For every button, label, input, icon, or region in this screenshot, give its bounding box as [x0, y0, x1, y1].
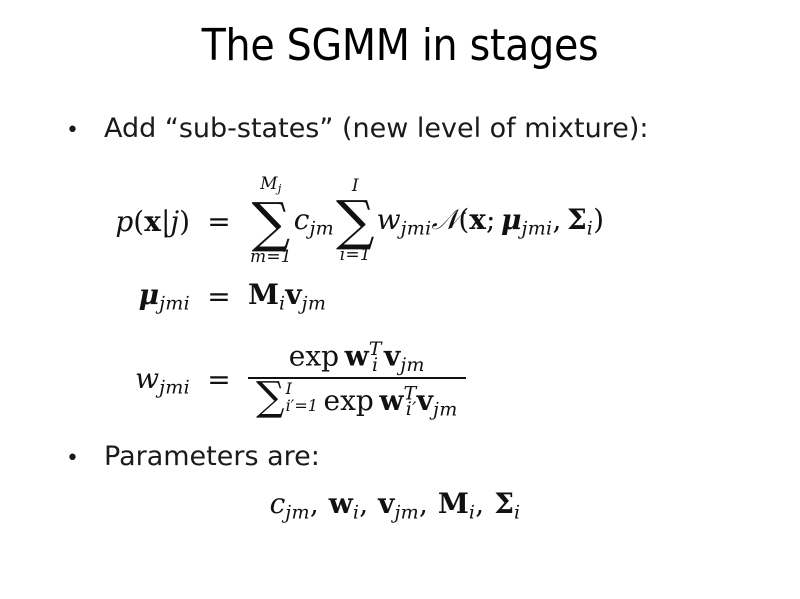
sum-upper-limit: I [286, 380, 318, 397]
exp-operator: exp [289, 339, 339, 372]
symbol-w-vector: w [379, 384, 403, 417]
sum-lower-limit: i=1 [340, 246, 371, 265]
sigma-glyph: ∑ [336, 196, 375, 246]
equals-sign: = [190, 205, 248, 238]
semicolon: ; [486, 203, 495, 236]
symbol-j: j [170, 205, 179, 238]
equation-rhs: exp wTi vjm ∑Ii′=1 exp wTi′vjm [248, 338, 466, 422]
bullet-item-label: Parameters are: [104, 440, 320, 474]
equation-rhs: Mj ∑ m=1 cjm I ∑ i=1 wjmi 𝒩(x; μjmi, Σi) [248, 175, 604, 267]
symbol-x-vector: x [469, 203, 486, 236]
parameter-list: cjm,wi,vjm,Mi,Σi [0, 487, 800, 523]
bullet-marker-icon: • [66, 442, 104, 476]
bullet-marker-icon: • [66, 114, 104, 148]
symbol-m-matrix: M [248, 278, 279, 311]
summation-over-substates: Mj ∑ m=1 [250, 175, 292, 267]
sigma-glyph: ∑ [256, 380, 285, 414]
slide-canvas: The SGMM in stages • Add “sub-states” (n… [0, 0, 800, 599]
summation-over-gaussians: I ∑ i=1 [336, 177, 375, 265]
equation-lhs: wjmi [60, 362, 190, 398]
equation-rhs: Mivjm [248, 278, 326, 314]
bullet-item-parameters: • Parameters are: [66, 440, 320, 476]
sigma-glyph: ∑ [252, 198, 291, 248]
sum-lower-limit: m=1 [250, 248, 292, 267]
fraction-denominator: ∑Ii′=1 exp wTi′vjm [248, 379, 466, 422]
symbol-mu-vector: μ [501, 203, 522, 236]
paren-open: ( [458, 203, 469, 236]
fraction-numerator: exp wTi vjm [281, 338, 433, 377]
comma: , [552, 203, 561, 236]
parameter-c: cjm, [270, 487, 319, 520]
weight-w: wjmi [377, 203, 432, 239]
symbol-conditional-bar: | [161, 205, 170, 238]
equation-substate-weight: wjmi = exp wTi vjm ∑Ii′=1 exp wTi′vjm [60, 338, 466, 422]
symbol-w-vector: w [345, 339, 369, 372]
bullet-item-label: Add “sub-states” (new level of mixture): [104, 112, 648, 146]
projection-matrix-term: Mivjm [248, 278, 326, 314]
parameter-w: wi, [329, 487, 368, 520]
equation-lhs: μjmi [60, 278, 190, 314]
coefficient-c: cjm [294, 203, 334, 239]
summation-normalizer: ∑Ii′=1 [256, 380, 318, 414]
equals-sign: = [190, 363, 248, 396]
parameter-m: Mi, [438, 487, 484, 520]
gaussian-term: 𝒩(x; μjmi, Σi) [432, 203, 605, 239]
equation-lhs: p(x|j) [60, 205, 190, 238]
symbol-v-vector: v [384, 339, 400, 372]
symbol-mu-vector: μ [139, 278, 160, 311]
equals-sign: = [190, 280, 248, 313]
equation-mean-vector: μjmi = Mivjm [60, 278, 326, 314]
page-title: The SGMM in stages [0, 20, 800, 72]
script-n-symbol: 𝒩 [432, 203, 459, 236]
paren-close: ) [593, 203, 604, 236]
parameter-sigma: Σi [494, 487, 520, 520]
sum-lower-limit: i′=1 [286, 397, 318, 414]
paren-open: ( [133, 205, 144, 238]
symbol-x-vector: x [144, 205, 161, 238]
symbol-v-vector: v [285, 278, 301, 311]
exp-operator: exp [324, 384, 374, 417]
bullet-item-sub-states: • Add “sub-states” (new level of mixture… [66, 112, 648, 148]
symbol-w: w [135, 362, 159, 395]
equation-likelihood: p(x|j) = Mj ∑ m=1 cjm I ∑ i=1 wjmi 𝒩(x; … [60, 175, 604, 267]
symbol-sigma-matrix: Σ [567, 203, 587, 236]
symbol-v-vector: v [417, 384, 433, 417]
symbol-p: p [115, 205, 133, 238]
paren-close: ) [179, 205, 190, 238]
parameter-v: vjm, [378, 487, 428, 520]
softmax-fraction: exp wTi vjm ∑Ii′=1 exp wTi′vjm [248, 338, 466, 422]
